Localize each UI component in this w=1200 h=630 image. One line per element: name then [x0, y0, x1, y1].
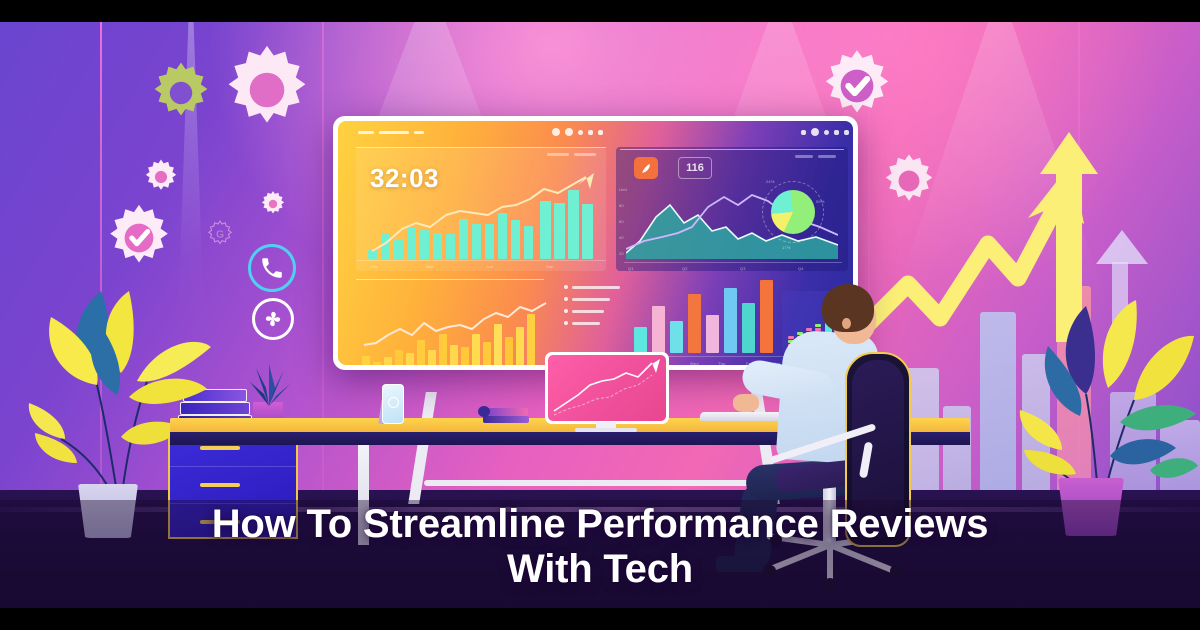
legend-entry: [795, 155, 813, 158]
axis-tick: Q4: [798, 266, 804, 271]
toolbar-center-icons[interactable]: [552, 128, 603, 136]
circle-icon[interactable]: [552, 128, 560, 136]
axis-tick: Sep: [546, 264, 554, 269]
secondary-monitor-base: [575, 428, 637, 432]
chart-icon[interactable]: [801, 130, 806, 135]
rocket-icon: [640, 162, 653, 175]
bar-series: [634, 277, 774, 353]
dashboard-toolbar: [338, 121, 853, 143]
svg-text:G: G: [216, 229, 224, 240]
gear-icon-right-plain: [880, 152, 938, 210]
panel-legend: [795, 155, 836, 158]
plant-left-leaves: [25, 277, 215, 517]
square-icon[interactable]: [834, 130, 839, 135]
axis-tick: Jun: [486, 264, 493, 269]
pie-label: 24%: [766, 179, 775, 184]
panel-top-rule: [356, 147, 606, 148]
panel-top-rule: [620, 149, 844, 150]
trend-line: [362, 297, 548, 365]
trend-line: [368, 171, 594, 259]
gear-icon-olive: [148, 60, 214, 126]
banner-image: G: [0, 0, 1200, 630]
legend-bullet: [564, 309, 568, 313]
axis-tick: Thu: [718, 361, 726, 365]
secondary-monitor-screen: [548, 355, 666, 421]
time-and-bar-chart-panel[interactable]: 32:03: [356, 147, 606, 271]
gear-icon-outline-globe: G: [206, 220, 234, 248]
gear-check-icon-right: [818, 47, 896, 125]
panel-top-rule: [356, 279, 544, 280]
legend-item: [564, 309, 604, 313]
propeller-icon: [252, 298, 294, 340]
bar: [742, 303, 755, 353]
bar: [670, 321, 683, 353]
circle-icon[interactable]: [565, 128, 573, 136]
phone-screen-dot: [388, 397, 399, 408]
axis-tick: 60: [619, 219, 624, 224]
title-line-1: How To Streamline Performance Reviews: [120, 502, 1080, 547]
bar: [634, 327, 647, 353]
axis-tick: Q2: [682, 266, 688, 271]
smartphone[interactable]: [382, 384, 404, 424]
desk-book: [483, 416, 529, 423]
phone-glyph: [259, 255, 285, 281]
toolbar-dash: [358, 131, 374, 134]
panel-bottom-axis: [356, 260, 606, 261]
panel-legend: [547, 153, 596, 156]
small-plant-leaves: [244, 362, 294, 406]
gear-icon-tiny-white: [259, 190, 287, 218]
gear-icon-large-white: [219, 42, 315, 138]
bar-series: [368, 171, 594, 259]
letterbox-bottom: [0, 608, 1200, 630]
bar-series: [362, 297, 548, 365]
bar: [688, 294, 701, 353]
pencil-icon[interactable]: [578, 130, 583, 135]
legend-item: [564, 321, 600, 325]
circle-icon[interactable]: [811, 128, 819, 136]
pencil-icon[interactable]: [824, 130, 829, 135]
legend-bullet: [564, 285, 568, 289]
page-title: How To Streamline Performance Reviews Wi…: [0, 502, 1200, 592]
toolbar-right-icons[interactable]: [801, 128, 849, 136]
legend-bar: [572, 298, 610, 301]
axis-tick: Q3: [740, 266, 746, 271]
title-line-2: With Tech: [120, 547, 1080, 592]
axis-tick: Mar: [426, 264, 434, 269]
kpi-value-box: 116: [678, 157, 712, 179]
axis-tick: 80: [619, 203, 624, 208]
desk-book-end: [478, 406, 490, 417]
phone-icon: [248, 244, 296, 292]
axis-tick: Wed: [690, 361, 699, 365]
bar: [706, 315, 719, 353]
axis-tick: 20: [619, 251, 624, 256]
legend-bar: [572, 286, 620, 289]
legend-entry: [547, 153, 569, 156]
orange-badge-icon[interactable]: [634, 157, 658, 179]
dashboard-screen: 32:03: [338, 121, 853, 365]
kpi-value: 116: [686, 162, 704, 174]
legend-entry: [574, 153, 596, 156]
pie-label: 17%: [782, 245, 791, 250]
bar: [760, 280, 773, 353]
legend-entry: [818, 155, 836, 158]
bar: [724, 288, 737, 353]
toolbar-dash: [379, 131, 409, 134]
orange-bar-chart-panel[interactable]: [356, 279, 552, 365]
area-and-pie-panel[interactable]: 116 24% 59%: [616, 147, 848, 271]
monitor-stand-crossbar: [424, 480, 764, 486]
legend-bullet: [564, 321, 568, 325]
person-hand: [733, 394, 759, 412]
legend-item: [564, 285, 620, 289]
toolbar-dash: [414, 131, 424, 134]
secondary-monitor[interactable]: [545, 352, 669, 424]
axis-tick: Q1: [628, 266, 634, 271]
legend-bullet: [564, 297, 568, 301]
person-ear: [842, 318, 851, 329]
segment: [815, 324, 821, 327]
line-chart: [548, 355, 666, 421]
axis-tick: 40: [619, 235, 624, 240]
bar: [652, 306, 665, 353]
square-icon[interactable]: [588, 130, 593, 135]
axis-tick: Unit: [619, 187, 627, 192]
pie-label: 59%: [816, 199, 825, 204]
pie-chart[interactable]: [771, 190, 815, 234]
gear-icon-small-white: [142, 158, 180, 196]
letterbox-top: [0, 0, 1200, 22]
panel-bottom-axis: [624, 262, 842, 263]
axis-tick: Jan: [370, 264, 377, 269]
gear-check-icon: [103, 202, 175, 274]
square-icon[interactable]: [844, 130, 849, 135]
legend-bar: [572, 322, 600, 325]
primary-monitor[interactable]: 32:03: [333, 116, 858, 370]
square-icon[interactable]: [598, 130, 603, 135]
legend-bar: [572, 310, 604, 313]
propeller-glyph: [261, 307, 285, 331]
legend-item: [564, 297, 610, 301]
